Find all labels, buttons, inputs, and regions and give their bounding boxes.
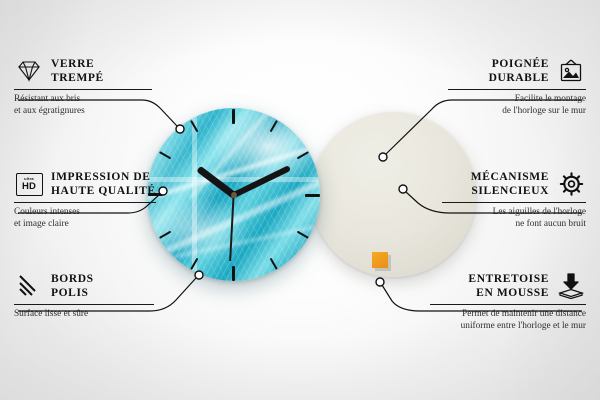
divider	[448, 89, 586, 90]
divider	[14, 89, 152, 90]
feature-title: IMPRESSION DE HAUTE QUALITÉ	[51, 170, 156, 198]
feature-impression-hd[interactable]: ultra HD IMPRESSION DE HAUTE QUALITÉ Cou…	[14, 170, 156, 231]
feature-title: VERRE TREMPÉ	[51, 57, 104, 85]
divider	[442, 202, 586, 203]
feature-bords-polis[interactable]: BORDS POLIS Surface lisse et sûre	[14, 272, 154, 320]
clock-center-cap	[231, 192, 237, 198]
clock-tick	[233, 109, 235, 195]
feature-poignee-durable[interactable]: POIGNÉE DURABLE Facilite le montage de l…	[448, 57, 586, 118]
hanging-picture-icon	[556, 58, 586, 84]
feature-description: Surface lisse et sûre	[14, 308, 154, 320]
clock-tick	[234, 194, 320, 196]
feature-title: ENTRETOISE EN MOUSSE	[468, 272, 549, 300]
foam-spacer	[372, 252, 388, 268]
ultra-hd-icon: ultra HD	[14, 171, 44, 197]
feature-title: MÉCANISME SILENCIEUX	[471, 170, 549, 198]
diamond-icon	[14, 58, 44, 84]
ultra-hd-icon-main-text: HD	[22, 182, 36, 192]
feature-description: Facilite le montage de l'horloge sur le …	[448, 93, 586, 118]
gear-icon	[556, 171, 586, 197]
feature-entretoise-mousse[interactable]: ENTRETOISE EN MOUSSE Permet de maintenir…	[430, 272, 586, 333]
divider	[430, 304, 586, 305]
feature-title: BORDS POLIS	[51, 272, 94, 300]
clock-tick	[148, 194, 234, 196]
polished-edges-icon	[14, 273, 44, 299]
feature-description: Résistant aux bris et aux égratignures	[14, 93, 152, 118]
infographic-canvas: VERRE TREMPÉ Résistant aux bris et aux é…	[0, 0, 600, 400]
clock-front-face	[147, 108, 320, 281]
feature-title: POIGNÉE DURABLE	[489, 57, 549, 85]
foam-spacer-icon	[556, 273, 586, 299]
feature-description: Les aiguilles de l'horloge ne font aucun…	[442, 206, 586, 231]
divider	[14, 202, 156, 203]
feature-description: Couleurs intenses et image claire	[14, 206, 156, 231]
divider	[14, 304, 154, 305]
feature-verre-trempe[interactable]: VERRE TREMPÉ Résistant aux bris et aux é…	[14, 57, 152, 118]
feature-description: Permet de maintenir une distance uniform…	[430, 308, 586, 333]
feature-mecanisme-silencieux[interactable]: MÉCANISME SILENCIEUX Les aiguilles de l'…	[442, 170, 586, 231]
